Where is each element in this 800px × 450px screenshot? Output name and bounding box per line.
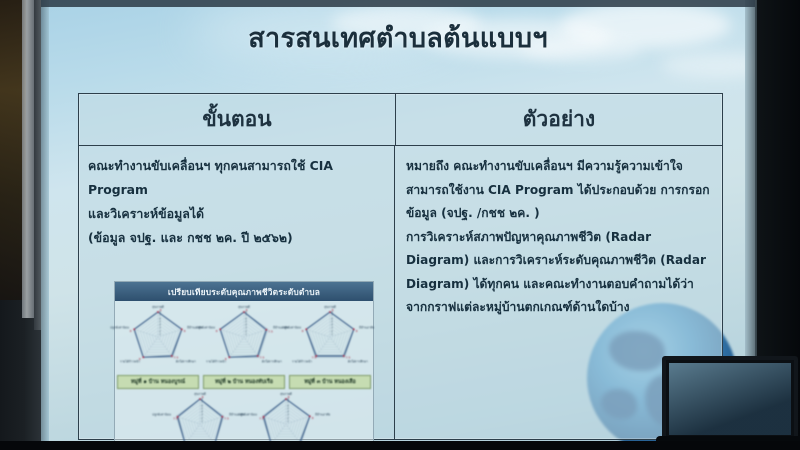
svg-text:ปลูกฝังค่านิยม: ปลูกฝังค่านิยม bbox=[282, 326, 301, 330]
radar-caption-3-label: หมู่ที่ ๓ บ้าน หนองเสือ bbox=[304, 378, 356, 386]
svg-text:ปลูกฝังค่านิยม: ปลูกฝังค่านิยม bbox=[238, 413, 257, 417]
svg-text:ฝักใฝ่การศึกษา: ฝักใฝ่การศึกษา bbox=[261, 359, 282, 363]
svg-text:7.5: 7.5 bbox=[312, 356, 317, 360]
svg-text:7.5: 7.5 bbox=[224, 416, 229, 420]
example-line-1: หมายถึง คณะทำงานขับเคลื่อนฯ มีความรู้ควา… bbox=[406, 155, 712, 179]
content-table: ขั้นตอน ตัวอย่าง คณะทำงานขับเคลื่อนฯ ทุก… bbox=[78, 93, 723, 440]
table-body-row: คณะทำงานขับเคลื่อนฯ ทุกคนสามารถใช้ CIA P… bbox=[79, 146, 722, 440]
svg-text:สุขภาพดี: สุขภาพดี bbox=[194, 392, 206, 397]
svg-text:8: 8 bbox=[216, 329, 218, 333]
radar-chart-grid: 12345678887.588สุขภาพดีมีบ้านอาศัยฝักใฝ่… bbox=[115, 301, 373, 442]
steps-line-3: (ข้อมูล จปฐ. และ กชช ๒ค. ปี ๒๕๖๒) bbox=[88, 226, 385, 250]
table-header-example: ตัวอย่าง bbox=[396, 94, 722, 145]
svg-text:7.5: 7.5 bbox=[268, 329, 273, 333]
radar-chart-2-svg: 1234567887.57.588สุขภาพดีมีบ้านอาศัยฝักใ… bbox=[205, 304, 283, 374]
chart-panel-title: เปรียบเทียบระดับคุณภาพชีวิตระดับตำบล bbox=[168, 285, 320, 299]
svg-text:สุขภาพดี: สุขภาพดี bbox=[152, 305, 164, 310]
example-line-3: ข้อมูล (จปฐ. /กชช ๒ค. ) bbox=[406, 202, 712, 226]
example-line-7: จากกราฟแต่ละหมู่บ้านตกเกณฑ์ด้านใดบ้าง bbox=[406, 296, 712, 320]
svg-text:8: 8 bbox=[184, 329, 186, 333]
radar-caption-2-label: หมู่ที่ ๒ บ้าน หนองทับเรือ bbox=[215, 378, 273, 386]
svg-text:8: 8 bbox=[130, 329, 132, 333]
slide-title: สารสนเทศตำบลต้นแบบฯ bbox=[41, 16, 755, 59]
radar-chart-2: 1234567887.57.588สุขภาพดีมีบ้านอาศัยฝักใ… bbox=[205, 304, 283, 374]
svg-text:สุขภาพดี: สุขภาพดี bbox=[280, 392, 292, 397]
radar-chart-3: 12345678887.57.58สุขภาพดีมีบ้านอาศัยฝักใ… bbox=[291, 304, 369, 374]
room-floor-shadow bbox=[0, 441, 800, 450]
screen-left-edge bbox=[41, 0, 49, 443]
radar-chart-1: 12345678887.588สุขภาพดีมีบ้านอาศัยฝักใฝ่… bbox=[119, 304, 197, 374]
svg-text:สุขภาพดี: สุขภาพดี bbox=[238, 305, 250, 310]
svg-text:รายได้ก้าวหน้า: รายได้ก้าวหน้า bbox=[206, 359, 226, 363]
screenshot-root: สารสนเทศตำบลต้นแบบฯ ขั้นตอน ตัวอย่าง คณะ… bbox=[0, 0, 800, 450]
example-line-4: การวิเคราะห์สภาพปัญหาคุณภาพชีวิต (Radar bbox=[406, 226, 712, 250]
wall-frame-highlight bbox=[22, 0, 34, 318]
radar-chart-4: 1234567887.5887.5สุขภาพดีมีบ้านอาศัยฝักใ… bbox=[161, 391, 239, 443]
radar-chart-panel: เปรียบเทียบระดับคุณภาพชีวิตระดับตำบล 123… bbox=[114, 281, 374, 443]
chart-panel-header: เปรียบเทียบระดับคุณภาพชีวิตระดับตำบล bbox=[115, 282, 373, 301]
example-line-5: Diagram) และการวิเคราะห์ระดับคุณภาพชีวิต… bbox=[406, 249, 712, 273]
svg-text:8: 8 bbox=[302, 329, 304, 333]
svg-text:รายได้ก้าวหน้า: รายได้ก้าวหน้า bbox=[120, 359, 140, 363]
steps-line-2: และวิเคราะห์ข้อมูลได้ bbox=[88, 202, 385, 226]
projection-screen: สารสนเทศตำบลต้นแบบฯ ขั้นตอน ตัวอย่าง คณะ… bbox=[41, 0, 755, 443]
svg-text:ปลูกฝังค่านิยม: ปลูกฝังค่านิยม bbox=[196, 326, 215, 330]
radar-caption-2: หมู่ที่ ๒ บ้าน หนองทับเรือ bbox=[203, 375, 285, 389]
radar-caption-1: หมู่ที่ ๑ บ้าน หนองบูรณ์ bbox=[117, 375, 199, 389]
radar-caption-3: หมู่ที่ ๓ บ้าน หนองเสือ bbox=[289, 375, 371, 389]
wall-frame-shadow bbox=[34, 0, 41, 330]
example-line-6: Diagram) ได้ทุกคน และคณะทำงานตอบคำถามได้… bbox=[406, 273, 712, 297]
laptop-silhouette bbox=[662, 356, 798, 442]
svg-text:ปลูกฝังค่านิยม: ปลูกฝังค่านิยม bbox=[152, 413, 171, 417]
svg-text:ฝักใฝ่การศึกษา: ฝักใฝ่การศึกษา bbox=[347, 359, 368, 363]
radar-chart-1-svg: 12345678887.588สุขภาพดีมีบ้านอาศัยฝักใฝ่… bbox=[119, 304, 197, 374]
svg-text:มีบ้านอาศัย: มีบ้านอาศัย bbox=[359, 326, 374, 330]
table-header-steps: ขั้นตอน bbox=[79, 94, 396, 145]
steps-line-1: คณะทำงานขับเคลื่อนฯ ทุกคนสามารถใช้ CIA P… bbox=[88, 154, 385, 202]
radar-chart-5: 12345678887.587.5สุขภาพดีมีบ้านอาศัยฝักใ… bbox=[247, 391, 325, 443]
svg-text:สุขภาพดี: สุขภาพดี bbox=[324, 305, 336, 310]
svg-text:7.5: 7.5 bbox=[173, 416, 178, 420]
screen-top-bar bbox=[41, 0, 755, 7]
svg-text:ปลูกฝังค่านิยม: ปลูกฝังค่านิยม bbox=[110, 326, 129, 330]
radar-chart-4-svg: 1234567887.5887.5สุขภาพดีมีบ้านอาศัยฝักใ… bbox=[161, 391, 239, 443]
radar-chart-5-svg: 12345678887.587.5สุขภาพดีมีบ้านอาศัยฝักใ… bbox=[247, 391, 325, 443]
svg-text:8: 8 bbox=[312, 416, 314, 420]
radar-caption-1-label: หมู่ที่ ๑ บ้าน หนองบูรณ์ bbox=[131, 378, 185, 386]
svg-text:8: 8 bbox=[356, 329, 358, 333]
table-header-row: ขั้นตอน ตัวอย่าง bbox=[79, 94, 722, 146]
table-cell-steps: คณะทำงานขับเคลื่อนฯ ทุกคนสามารถใช้ CIA P… bbox=[79, 146, 395, 440]
laptop-screen bbox=[669, 363, 791, 435]
radar-chart-3-svg: 12345678887.57.58สุขภาพดีมีบ้านอาศัยฝักใ… bbox=[291, 304, 369, 374]
svg-text:รายได้ก้าวหน้า: รายได้ก้าวหน้า bbox=[292, 359, 312, 363]
svg-text:7.5: 7.5 bbox=[259, 416, 264, 420]
svg-text:ฝักใฝ่การศึกษา: ฝักใฝ่การศึกษา bbox=[175, 359, 196, 363]
example-line-2: สามารถใช้งาน CIA Program ได้ประกอบด้วย ก… bbox=[406, 179, 712, 203]
svg-text:มีบ้านอาศัย: มีบ้านอาศัย bbox=[315, 413, 330, 417]
